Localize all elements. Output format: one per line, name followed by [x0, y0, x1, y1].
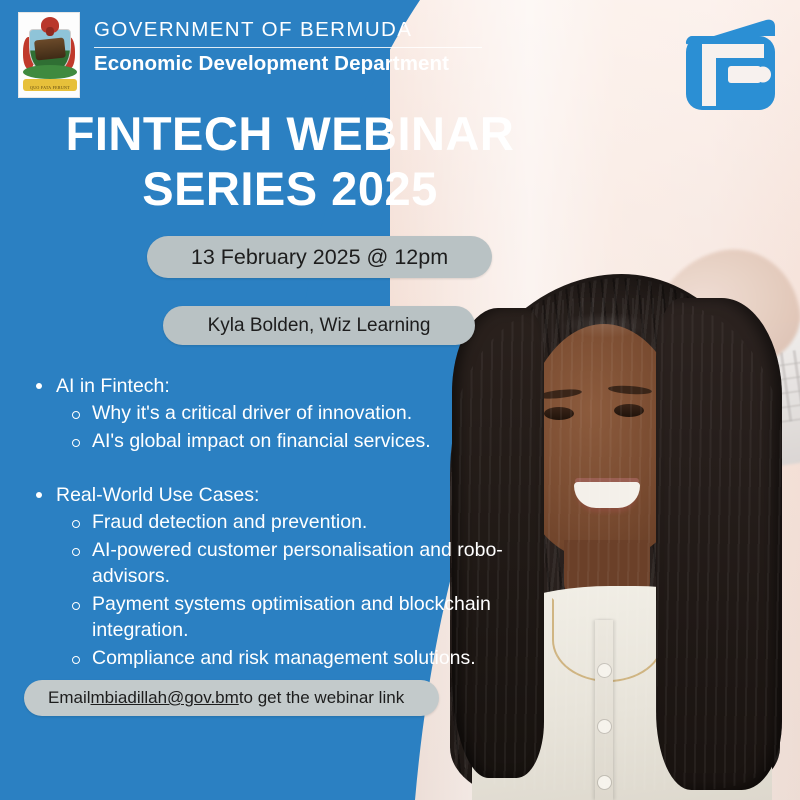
shirt-placket [595, 620, 613, 800]
header-divider [94, 47, 482, 48]
email-prefix-text: Email [48, 688, 91, 708]
shirt-button [598, 664, 611, 677]
shirt-button [598, 720, 611, 733]
agenda-topic: AI in Fintech: Why it's a critical drive… [24, 372, 524, 455]
agenda-point: Why it's a critical driver of innovation… [24, 401, 524, 427]
crest-motto: QUO FATA FERUNT [19, 85, 80, 90]
date-badge: 13 February 2025 @ 12pm [147, 236, 492, 278]
department-title: Economic Development Department [94, 52, 482, 76]
government-title: GOVERNMENT OF BERMUDA [94, 18, 482, 42]
shirt-button [598, 776, 611, 789]
agenda-sublist: Fraud detection and prevention. AI-power… [24, 510, 524, 672]
agenda-point: AI's global impact on financial services… [24, 429, 524, 455]
agenda-point: Fraud detection and prevention. [24, 510, 524, 536]
hair-front-right [656, 298, 782, 790]
agenda-sublist: Why it's a critical driver of innovation… [24, 401, 524, 455]
crest-shipwreck [34, 37, 66, 60]
title-line-1: FINTECH WEBINAR [0, 106, 580, 161]
government-header: QUO FATA FERUNT GOVERNMENT OF BERMUDA Ec… [18, 12, 482, 98]
agenda-list: AI in Fintech: Why it's a critical drive… [24, 372, 524, 672]
speaker-badge: Kyla Bolden, Wiz Learning [163, 306, 475, 345]
agenda-spacer [24, 459, 524, 481]
agenda-point: Compliance and risk management solutions… [24, 646, 524, 672]
smile [574, 482, 640, 508]
email-suffix-text: to get the webinar link [239, 688, 404, 708]
hair-part [560, 312, 650, 338]
page-title: FINTECH WEBINAR SERIES 2025 [0, 106, 580, 217]
email-cta-badge[interactable]: Email mbiadillah@gov.bm to get the webin… [24, 680, 439, 716]
title-line-2: SERIES 2025 [0, 161, 580, 216]
fintech-wallet-logo [678, 14, 782, 114]
agenda-content: AI in Fintech: Why it's a critical drive… [24, 372, 524, 676]
agenda-topic-label: AI in Fintech: [24, 372, 524, 400]
agenda-point: AI-powered customer personalisation and … [24, 538, 524, 590]
agenda-point: Payment systems optimisation and blockch… [24, 592, 524, 644]
webinar-poster: QUO FATA FERUNT GOVERNMENT OF BERMUDA Ec… [0, 0, 800, 800]
crest-grass [23, 65, 77, 79]
agenda-topic-label: Real-World Use Cases: [24, 481, 524, 509]
crest-red-lion [41, 17, 59, 33]
agenda-topic: Real-World Use Cases: Fraud detection an… [24, 481, 524, 672]
header-text-block: GOVERNMENT OF BERMUDA Economic Developme… [94, 12, 482, 76]
eye-left [544, 407, 574, 420]
bermuda-coat-of-arms-icon: QUO FATA FERUNT [18, 12, 80, 98]
email-link[interactable]: mbiadillah@gov.bm [91, 688, 239, 708]
eye-right [614, 404, 644, 417]
